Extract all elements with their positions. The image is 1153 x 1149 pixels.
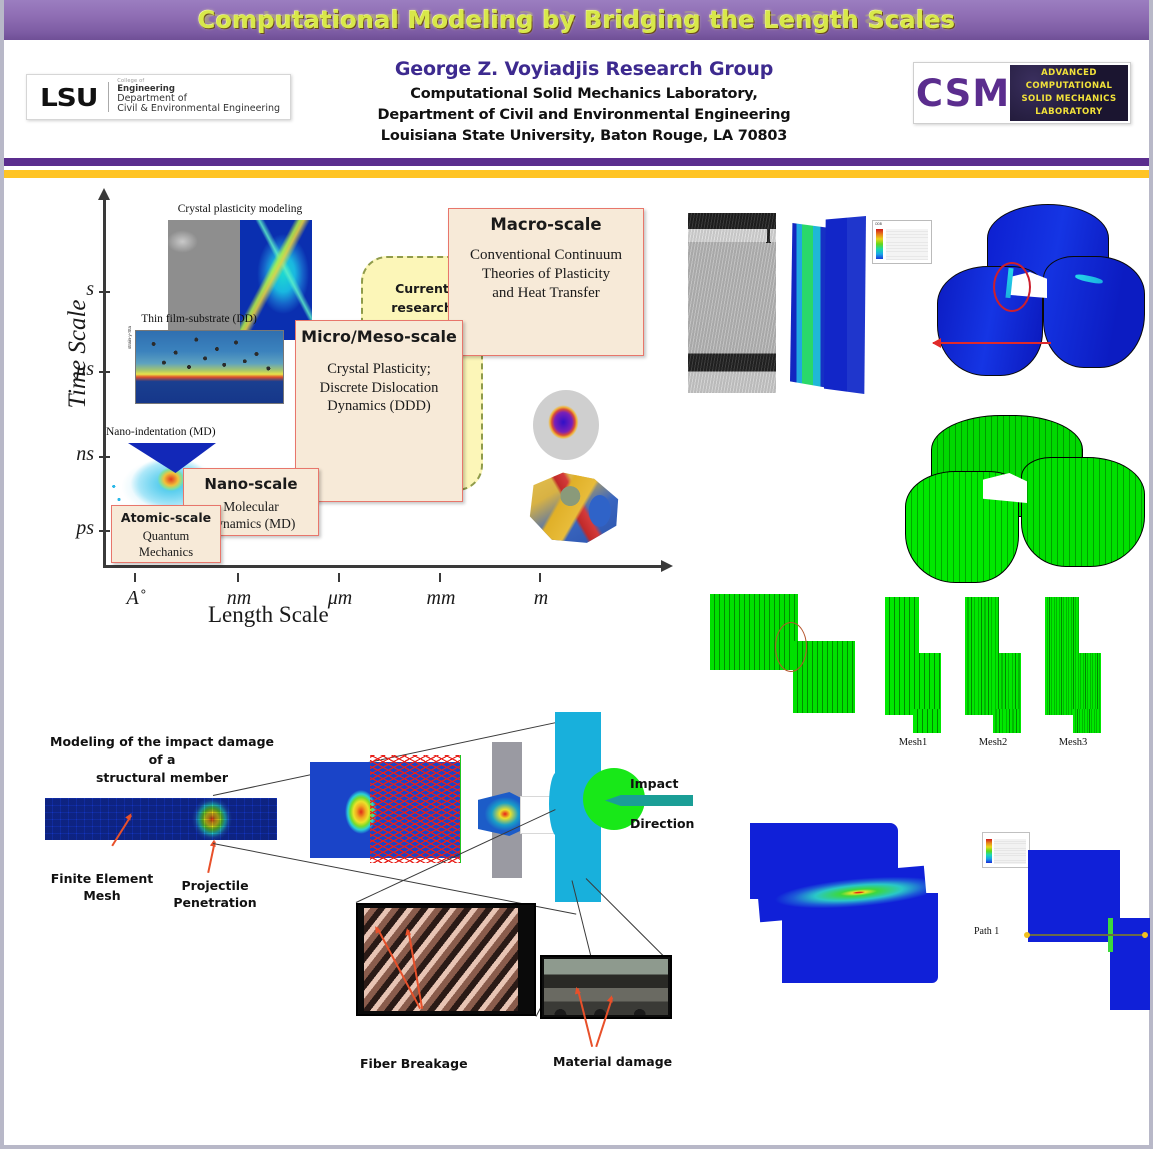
path-endpoint-right bbox=[1142, 932, 1148, 938]
direction-label: Direction bbox=[630, 816, 694, 833]
nano-scale-title: Nano-scale bbox=[188, 475, 314, 493]
lsu-logo-divider bbox=[108, 82, 109, 112]
lsu-department-name-line: Civil & Environmental Engineering bbox=[117, 104, 280, 114]
csm-logo-text: ADVANCED COMPUTATIONAL SOLID MECHANICS L… bbox=[1010, 65, 1128, 121]
contour-legend-title: ODB bbox=[875, 222, 882, 226]
mesh2-top-block bbox=[965, 597, 999, 657]
annotation-micro-meso-scale: Micro/Meso-scale Crystal Plasticity; Dis… bbox=[295, 320, 463, 502]
fem-contour-strip-a bbox=[790, 223, 830, 388]
poster-root: Computational Modeling by Bridging the L… bbox=[0, 0, 1153, 1149]
path-plot-legend-colorbar bbox=[986, 839, 992, 863]
finite-element-mesh-label: Finite Element Mesh bbox=[42, 871, 162, 905]
atomic-scale-body: Quantum Mechanics bbox=[116, 528, 216, 560]
mesh3-bottom-block bbox=[1073, 709, 1101, 733]
micro-meso-scale-body: Crystal Plasticity; Discrete Dislocation… bbox=[300, 360, 458, 416]
projectile-velocity-vectors bbox=[370, 755, 461, 863]
atomic-scale-title: Atomic-scale bbox=[116, 510, 216, 525]
mesh1-top-block bbox=[885, 597, 919, 657]
affiliation-line-3: Louisiana State University, Baton Rouge,… bbox=[304, 126, 864, 147]
green-2d-mesh-detail bbox=[710, 594, 858, 714]
mesh-detail-circle bbox=[775, 622, 807, 672]
path-label: Path 1 bbox=[974, 926, 999, 937]
sem-scale-caption bbox=[520, 913, 532, 1005]
mesh3-label: Mesh3 bbox=[1045, 737, 1101, 748]
csm-line-3: SOLID MECHANICS bbox=[1022, 93, 1117, 106]
divider-gold bbox=[4, 170, 1149, 178]
csm-acronym: CSM bbox=[916, 65, 1010, 121]
research-group-title: George Z. Voyiadjis Research Group bbox=[304, 58, 864, 80]
fe-mesh-label-line-1: Finite Element bbox=[42, 871, 162, 888]
affiliation-line-2: Department of Civil and Environmental En… bbox=[304, 105, 864, 126]
y-tick-ps: ps bbox=[48, 517, 94, 540]
mesh1-label: Mesh1 bbox=[885, 737, 941, 748]
csm-line-4: LABORATORY bbox=[1035, 106, 1102, 119]
y-tick-us: μs bbox=[48, 358, 94, 381]
lsu-logo-text: College of Engineering Department of Civ… bbox=[117, 79, 280, 114]
csm-line-1: ADVANCED bbox=[1041, 67, 1097, 80]
mesh-variant-1: Mesh1 bbox=[885, 597, 941, 725]
damage-blob-image bbox=[533, 390, 599, 460]
frame-bottom-border bbox=[0, 1145, 1153, 1149]
header-block: LSU College of Engineering Department of… bbox=[4, 40, 1149, 155]
x-tick-nm: nm bbox=[204, 587, 274, 610]
mesh1-mid-block bbox=[885, 653, 941, 715]
projectile-penetration-label: Projectile Penetration bbox=[160, 878, 270, 912]
path-line bbox=[1026, 934, 1146, 936]
fracture-simulation-group: ODB bbox=[680, 198, 1150, 413]
x-axis bbox=[103, 565, 663, 568]
mesh3-mid-block bbox=[1045, 653, 1101, 715]
callout-guide-md-right bbox=[586, 878, 664, 956]
x-tick-um: μm bbox=[305, 587, 375, 610]
title-banner: Computational Modeling by Bridging the L… bbox=[4, 0, 1149, 40]
mesh3-top-block bbox=[1045, 597, 1079, 657]
annotation-atomic-scale: Atomic-scale Quantum Mechanics bbox=[111, 505, 221, 563]
mesh2-bottom-block bbox=[993, 709, 1021, 733]
cylinder-right-segment bbox=[1043, 256, 1145, 368]
mesh2-mid-block bbox=[965, 653, 1021, 715]
macro-scale-body: Conventional Continuum Theories of Plast… bbox=[453, 246, 639, 304]
thin-film-thumbnail: Thin film-substrate (DD) strain-y-Sta bbox=[113, 330, 285, 405]
fem-contour-strip-b bbox=[824, 216, 866, 394]
path-plot-legend bbox=[982, 832, 1030, 868]
thin-film-y-axis-label: strain-y-Sta bbox=[127, 326, 132, 349]
blue-3d-cylinder-model bbox=[935, 204, 1143, 394]
path-endpoint-left bbox=[1024, 932, 1030, 938]
finite-element-mesh-bar bbox=[45, 798, 277, 840]
engine-cutaway-image bbox=[528, 468, 620, 546]
thin-film-contour-image: strain-y-Sta bbox=[135, 330, 284, 404]
nano-indentation-caption: Nano-indentation (MD) bbox=[106, 426, 238, 438]
material-damage-label: Material damage bbox=[553, 1054, 672, 1071]
path-plot-upper-block bbox=[1028, 850, 1120, 942]
x-tick-m: m bbox=[506, 587, 576, 610]
mesh2-label: Mesh2 bbox=[965, 737, 1021, 748]
multiscale-chart: Time Scale Length Scale s μs ns ps A˚ nm… bbox=[28, 190, 668, 660]
shear-band-contour-plot bbox=[750, 823, 940, 983]
projectile-label-line-1: Projectile bbox=[160, 878, 270, 895]
microstructure-micrograph bbox=[688, 213, 776, 393]
macro-scale-title: Macro-scale bbox=[453, 215, 639, 234]
x-tick-mm: mm bbox=[406, 587, 476, 610]
header-center-text: George Z. Voyiadjis Research Group Compu… bbox=[304, 58, 864, 147]
mesh-refinement-row: Mesh1 Mesh2 Mesh3 bbox=[885, 597, 1115, 752]
contour-legend-colorbar bbox=[876, 229, 883, 259]
impact-title-line-1: Modeling of the impact damage of a bbox=[42, 733, 282, 769]
mesh-cylinder-right-segment bbox=[1021, 457, 1145, 567]
x-tick-angstrom: A˚ bbox=[101, 587, 171, 610]
crystal-plasticity-caption: Crystal plasticity modeling bbox=[168, 203, 312, 215]
projectile-label-line-2: Penetration bbox=[160, 895, 270, 912]
csm-line-2: COMPUTATIONAL bbox=[1026, 80, 1113, 93]
zoom-detail-arrow-icon bbox=[933, 342, 1051, 344]
impact-label: Impact bbox=[630, 776, 678, 793]
mesh-variant-2: Mesh2 bbox=[965, 597, 1021, 725]
fiber-breakage-sem-image bbox=[356, 903, 536, 1016]
projectile-pointer-arrow bbox=[207, 841, 215, 873]
current-research-label-1: Current research bbox=[391, 281, 452, 315]
fe-mesh-label-line-2: Mesh bbox=[42, 888, 162, 905]
green-meshed-cylinder-model bbox=[905, 415, 1145, 590]
divider-purple bbox=[4, 158, 1149, 166]
mesh-variant-3: Mesh3 bbox=[1045, 597, 1101, 725]
annotation-macro-scale: Macro-scale Conventional Continuum Theor… bbox=[448, 208, 644, 356]
impact-title-line-2: structural member bbox=[42, 769, 282, 787]
micro-meso-scale-title: Micro/Meso-scale bbox=[300, 327, 458, 346]
contour-legend: ODB bbox=[872, 220, 932, 264]
zoom-detail-circle bbox=[993, 262, 1031, 312]
affiliation-line-1: Computational Solid Mechanics Laboratory… bbox=[304, 84, 864, 105]
csm-logo: CSM ADVANCED COMPUTATIONAL SOLID MECHANI… bbox=[913, 62, 1131, 124]
y-tick-s: s bbox=[48, 278, 94, 301]
contour-legend-values bbox=[886, 229, 928, 260]
material-damage-inner bbox=[544, 959, 668, 1015]
fiber-breakage-sem-inner bbox=[364, 908, 518, 1011]
mesh1-bottom-block bbox=[913, 709, 941, 733]
poster-title: Computational Modeling by Bridging the L… bbox=[198, 6, 956, 34]
lsu-wordmark: LSU bbox=[31, 85, 104, 110]
path-plot-legend-values bbox=[994, 839, 1026, 864]
y-tick-ns: ns bbox=[48, 443, 94, 466]
impact-section-title: Modeling of the impact damage of a struc… bbox=[42, 733, 282, 787]
lsu-logo: LSU College of Engineering Department of… bbox=[26, 74, 291, 120]
scale-bar-icon bbox=[767, 225, 770, 243]
impact-direction-arrow-icon bbox=[605, 795, 693, 806]
fiber-breakage-label: Fiber Breakage bbox=[360, 1056, 468, 1073]
thin-film-caption: Thin film-substrate (DD) bbox=[113, 313, 285, 325]
path-extraction-contour-plot: Path 1 bbox=[1010, 850, 1150, 1010]
